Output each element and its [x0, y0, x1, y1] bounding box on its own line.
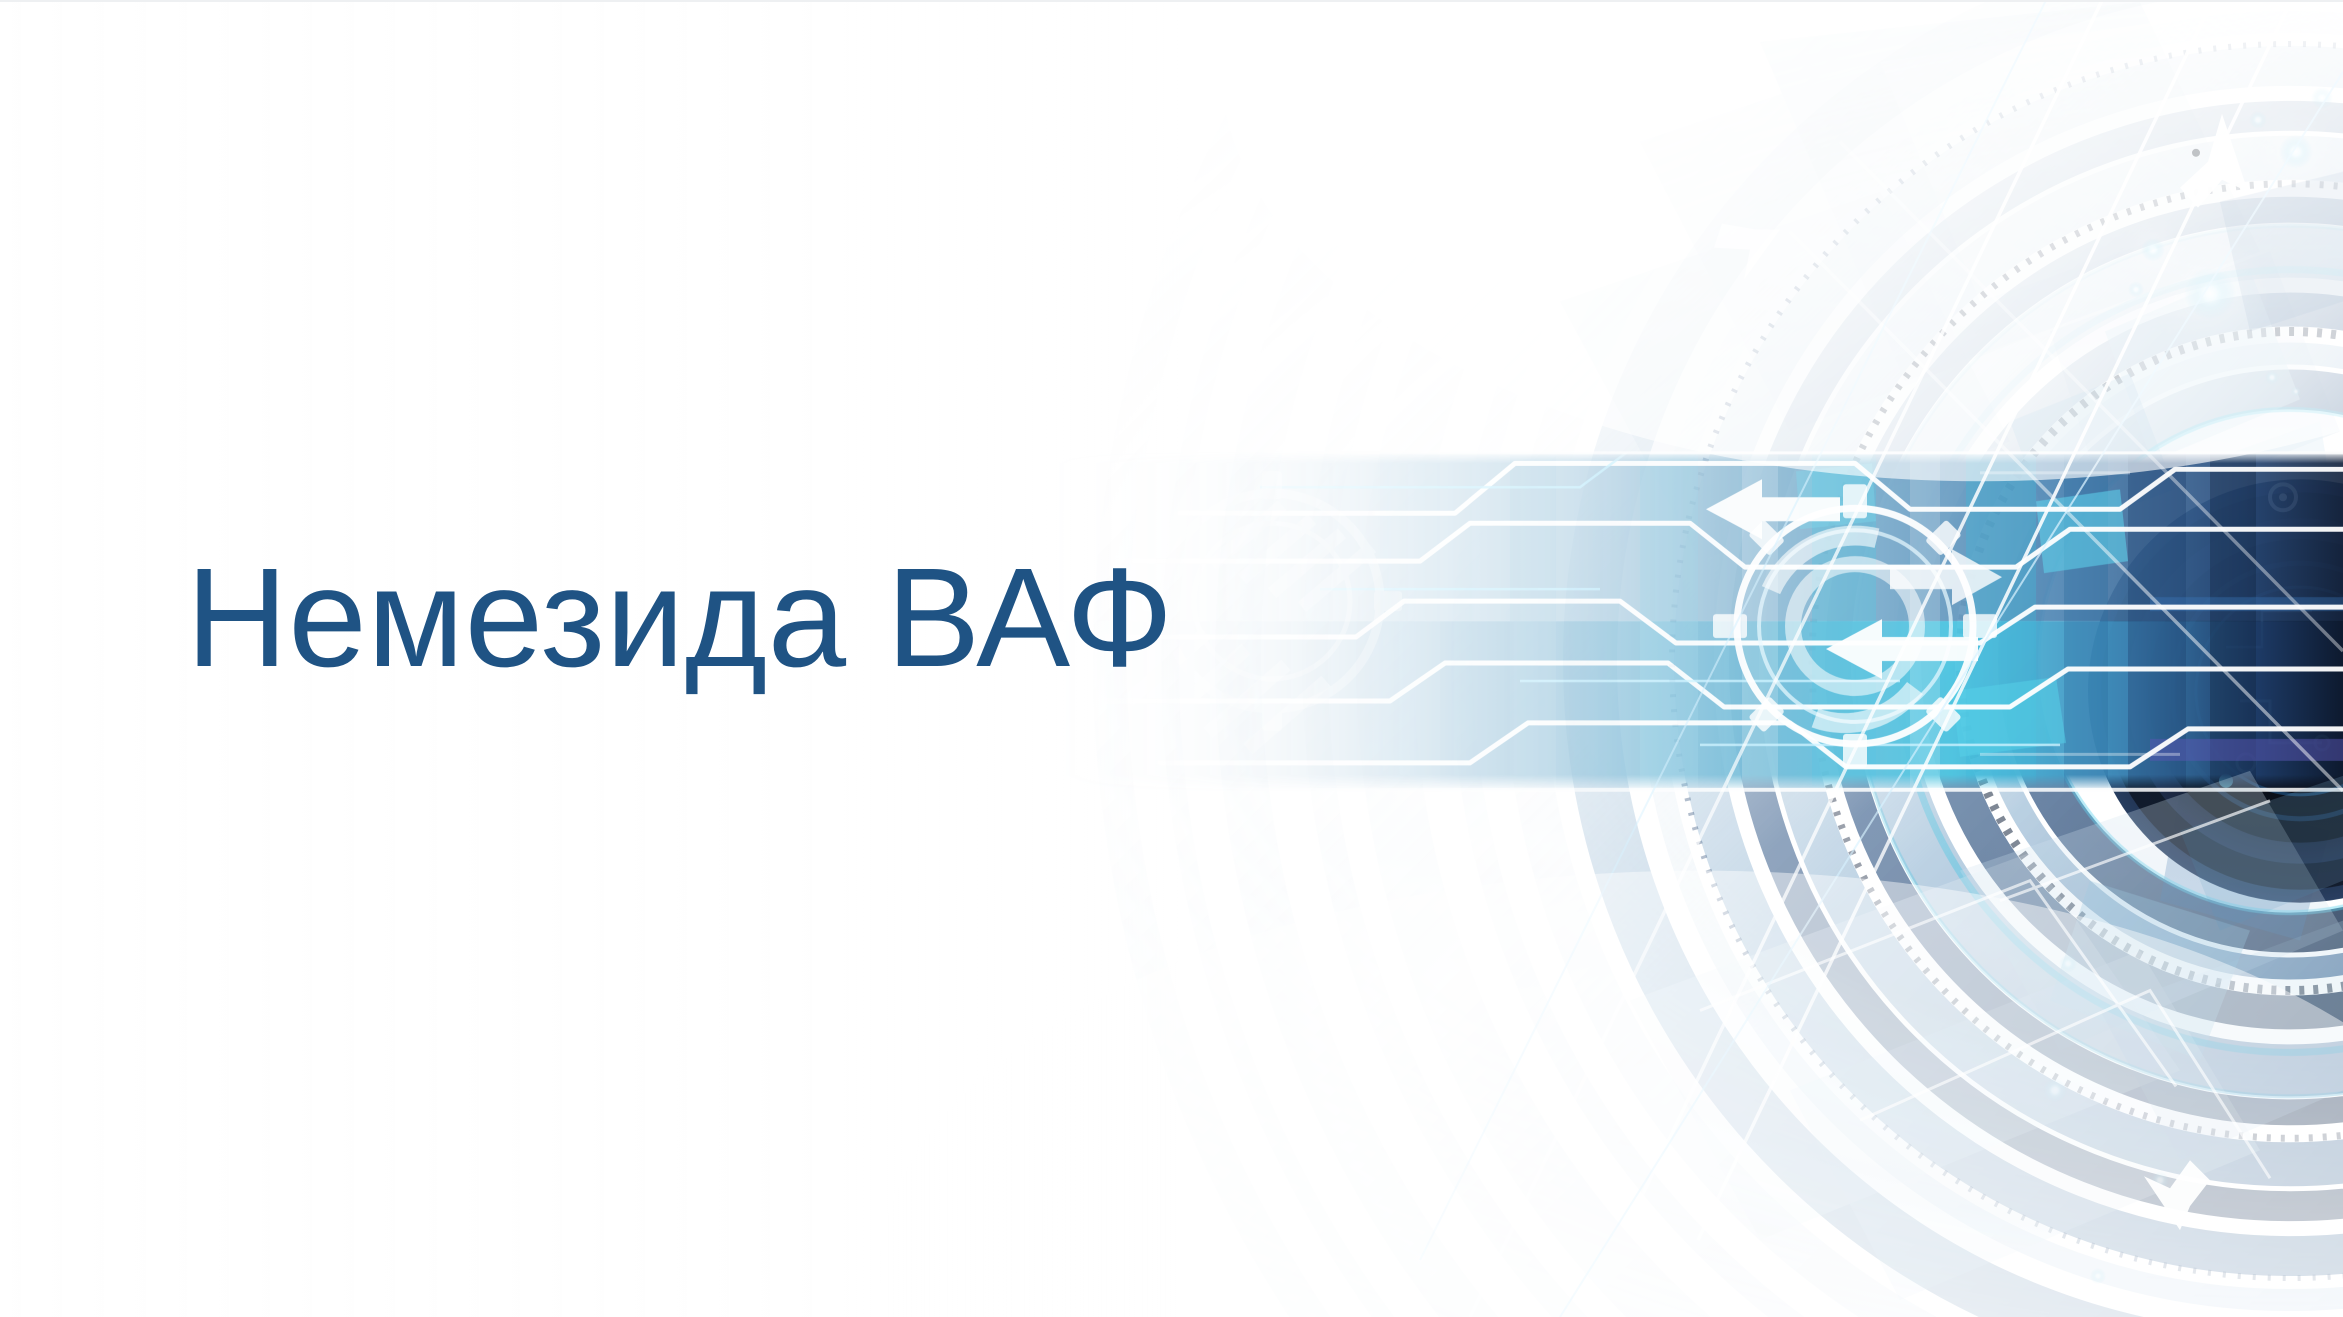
slide-title-text: Немезида ВАФ: [186, 543, 1174, 691]
presentation-slide: Немезида ВАФ: [0, 0, 2343, 1317]
slide-title: Немезида ВАФ: [186, 542, 1186, 692]
